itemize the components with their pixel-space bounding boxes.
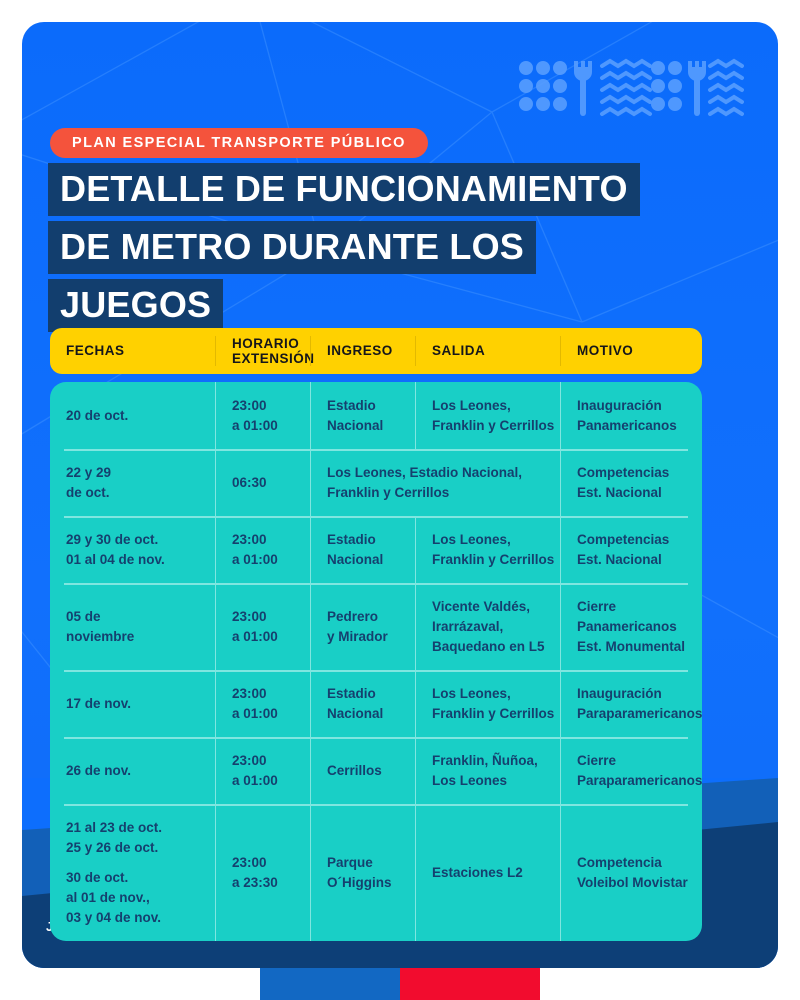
cell-line: 05 de [66, 607, 205, 627]
cell-line: Vicente Valdés, [432, 597, 550, 617]
chile-flag-tab [260, 968, 540, 1000]
column-header-salida: SALIDA [415, 336, 560, 366]
cell-line: 23:00 [232, 853, 300, 873]
cell-line: Paraparamericanos [577, 704, 692, 724]
cell-horario: 23:00a 01:00 [215, 670, 310, 737]
cell-horario: 23:00a 01:00 [215, 737, 310, 804]
cell-line: 23:00 [232, 530, 300, 550]
cell-line: Nacional [327, 550, 405, 570]
cell-motivo: CierreParaparamericanos [560, 737, 702, 804]
cell-salida: Vicente Valdés,Irarrázaval,Baquedano en … [415, 583, 560, 670]
cell-salida: Estaciones L2 [415, 804, 560, 941]
eyebrow-badge: PLAN ESPECIAL TRANSPORTE PÚBLICO [50, 128, 428, 158]
cell-line: Los Leones, [432, 396, 550, 416]
cell-line: 23:00 [232, 684, 300, 704]
cell-line: a 01:00 [232, 627, 300, 647]
cell-line: Est. Nacional [577, 483, 692, 503]
cell-line: al 01 de nov., [66, 888, 205, 908]
cell-line: noviembre [66, 627, 205, 647]
cell-line: 03 y 04 de nov. [66, 908, 205, 928]
cell-line: Pedrero [327, 607, 405, 627]
cell-salida: Los Leones,Franklin y Cerrillos [415, 670, 560, 737]
cell-line: Est. Nacional [577, 550, 692, 570]
table-row: 05 denoviembre23:00a 01:00Pedreroy Mirad… [50, 583, 702, 670]
cell-line: 21 al 23 de oct. [66, 818, 205, 838]
cell-line: 29 y 30 de oct. [66, 530, 205, 550]
cell-line: Paraparamericanos [577, 771, 692, 791]
cell-salida: Los Leones,Franklin y Cerrillos [415, 516, 560, 583]
cell-horario: 23:00a 01:00 [215, 382, 310, 449]
cell-line: Nacional [327, 704, 405, 724]
table-row: 22 y 29de oct.06:30Los Leones, Estadio N… [50, 449, 702, 516]
cell-ingreso: EstadioNacional [310, 382, 415, 449]
cell-line: 23:00 [232, 396, 300, 416]
cell-line: 01 al 04 de nov. [66, 550, 205, 570]
decorative-pattern [518, 58, 744, 120]
cell-fechas: 05 denoviembre [50, 583, 215, 670]
cell-line: 23:00 [232, 607, 300, 627]
cell-line: Estaciones L2 [432, 863, 550, 883]
table-row: 29 y 30 de oct.01 al 04 de nov.23:00a 01… [50, 516, 702, 583]
cell-line: Est. Monumental [577, 637, 692, 657]
cell-line: Cierre [577, 597, 692, 617]
cell-line: a 01:00 [232, 704, 300, 724]
flag-red-stripe [400, 968, 540, 1000]
cell-line: Parque [327, 853, 405, 873]
cell-salida: Los Leones,Franklin y Cerrillos [415, 382, 560, 449]
cell-line: a 23:30 [232, 873, 300, 893]
cell-line: Inauguración [577, 684, 692, 704]
cell-line: Franklin, Ñuñoa, [432, 751, 550, 771]
cell-line: 17 de nov. [66, 694, 205, 714]
cell-line: Panamericanos [577, 617, 692, 637]
cell-horario: 23:00a 23:30 [215, 804, 310, 941]
cell-line: Competencias [577, 530, 692, 550]
cell-line: O´Higgins [327, 873, 405, 893]
table-row: 20 de oct.23:00a 01:00EstadioNacionalLos… [50, 382, 702, 449]
cell-line: Estadio [327, 684, 405, 704]
cell-line: 30 de oct. [66, 868, 205, 888]
cell-motivo: InauguraciónPanamericanos [560, 382, 702, 449]
cell-motivo: CompetenciasEst. Nacional [560, 449, 702, 516]
column-header-horario-line-1: HORARIO [232, 336, 315, 351]
cell-ingreso: EstadioNacional [310, 516, 415, 583]
cell-line: 20 de oct. [66, 406, 205, 426]
cell-fechas: 26 de nov. [50, 737, 215, 804]
page-title: DETALLE DE FUNCIONAMIENTO DE METRO DURAN… [48, 163, 738, 337]
cell-line: Estadio [327, 396, 405, 416]
cell-line: 26 de nov. [66, 761, 205, 781]
page-title-line-3: JUEGOS [48, 279, 223, 332]
cell-line: Los Leones, [432, 684, 550, 704]
cell-fechas: 20 de oct. [50, 382, 215, 449]
cell-line: Los Leones, [432, 530, 550, 550]
cell-line: Competencias [577, 463, 692, 483]
cell-line: Voleibol Movistar [577, 873, 692, 893]
cell-fechas: 29 y 30 de oct.01 al 04 de nov. [50, 516, 215, 583]
page-title-line-1: DETALLE DE FUNCIONAMIENTO [48, 163, 640, 216]
cell-ingreso: Cerrillos [310, 737, 415, 804]
table-row: 26 de nov.23:00a 01:00CerrillosFranklin,… [50, 737, 702, 804]
cell-salida: Franklin, Ñuñoa,Los Leones [415, 737, 560, 804]
cell-line: Competencia [577, 853, 692, 873]
cell-horario: 23:00a 01:00 [215, 583, 310, 670]
cell-line: Franklin y Cerrillos [432, 704, 550, 724]
cell-line: a 01:00 [232, 771, 300, 791]
cell-motivo: InauguraciónParaparamericanos [560, 670, 702, 737]
cell-line: 06:30 [232, 473, 300, 493]
cell-line: Franklin y Cerrillos [432, 550, 550, 570]
infographic-page: Santiago 2023 Juegos PanAm | ParapanAm P… [0, 0, 800, 1000]
table-header-row: FECHAS HORARIO EXTENSIÓN INGRESO SALIDA … [50, 328, 702, 374]
cell-line: Cerrillos [327, 761, 405, 781]
page-title-line-2: DE METRO DURANTE LOS [48, 221, 536, 274]
cell-line: Franklin y Cerrillos [327, 483, 550, 503]
cell-line: Inauguración [577, 396, 692, 416]
cell-horario: 06:30 [215, 449, 310, 516]
cell-line: 23:00 [232, 751, 300, 771]
cell-line: Estadio [327, 530, 405, 550]
cell-line: y Mirador [327, 627, 405, 647]
cell-motivo: CierrePanamericanosEst. Monumental [560, 583, 702, 670]
column-header-motivo: MOTIVO [560, 336, 702, 366]
column-header-horario-extension: HORARIO EXTENSIÓN [215, 336, 310, 366]
cell-motivo: CompetenciaVoleibol Movistar [560, 804, 702, 941]
column-header-ingreso: INGRESO [310, 336, 415, 366]
cell-ingreso-salida: Los Leones, Estadio Nacional,Franklin y … [310, 449, 560, 516]
cell-line: a 01:00 [232, 416, 300, 436]
cell-motivo: CompetenciasEst. Nacional [560, 516, 702, 583]
cell-line: Los Leones [432, 771, 550, 791]
cell-line: de oct. [66, 483, 205, 503]
column-header-fechas: FECHAS [50, 336, 215, 366]
cell-line: 22 y 29 [66, 463, 205, 483]
cell-line: Franklin y Cerrillos [432, 416, 550, 436]
cell-line: a 01:00 [232, 550, 300, 570]
cell-fechas: 21 al 23 de oct.25 y 26 de oct.30 de oct… [50, 804, 215, 941]
cell-line: Nacional [327, 416, 405, 436]
column-header-horario-line-2: EXTENSIÓN [232, 351, 315, 366]
cell-line: Irarrázaval, [432, 617, 550, 637]
cell-line: 25 y 26 de oct. [66, 838, 205, 858]
cell-ingreso: EstadioNacional [310, 670, 415, 737]
table-body: 20 de oct.23:00a 01:00EstadioNacionalLos… [50, 382, 702, 941]
cell-line: Panamericanos [577, 416, 692, 436]
cell-line: Baquedano en L5 [432, 637, 550, 657]
flag-blue-stripe [260, 968, 400, 1000]
cell-line: Los Leones, Estadio Nacional, [327, 463, 550, 483]
cell-horario: 23:00a 01:00 [215, 516, 310, 583]
cell-fechas: 17 de nov. [50, 670, 215, 737]
table-row: 21 al 23 de oct.25 y 26 de oct.30 de oct… [50, 804, 702, 941]
cell-ingreso: Pedreroy Mirador [310, 583, 415, 670]
cell-fechas: 22 y 29de oct. [50, 449, 215, 516]
table-row: 17 de nov.23:00a 01:00EstadioNacionalLos… [50, 670, 702, 737]
cell-line: Cierre [577, 751, 692, 771]
cell-ingreso: ParqueO´Higgins [310, 804, 415, 941]
